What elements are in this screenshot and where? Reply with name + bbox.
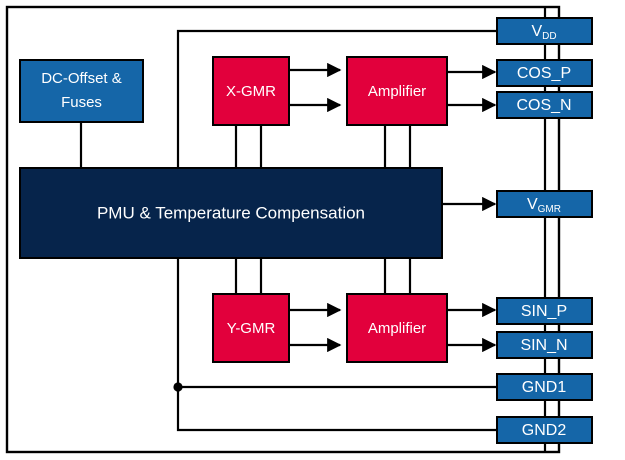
pin-vgmr-subscript: GMR	[538, 204, 561, 215]
wire-gnd2	[178, 387, 497, 430]
block-pmu-label: PMU & Temperature Compensation	[97, 203, 365, 222]
pin-vgmr-label: V	[527, 196, 538, 213]
block-x-gmr-label: X-GMR	[226, 83, 276, 100]
pin-cos-n[interactable]: COS_N	[497, 92, 592, 118]
block-y-gmr[interactable]: Y-GMR	[213, 294, 289, 362]
block-y-gmr-label: Y-GMR	[227, 320, 276, 337]
pin-gnd1-label: GND1	[522, 379, 567, 396]
block-dc-offset-label2: Fuses	[61, 94, 102, 111]
block-dc-offset-label: DC-Offset &	[41, 70, 122, 87]
pin-cos-n-label: COS_N	[516, 97, 571, 114]
pin-sin-p-label: SIN_P	[521, 303, 567, 320]
pin-sin-p[interactable]: SIN_P	[497, 298, 592, 324]
diagram-canvas: DC-Offset & Fuses X-GMR Amplifier PMU & …	[0, 0, 625, 460]
block-amplifier-top[interactable]: Amplifier	[347, 57, 447, 125]
pin-vdd-subscript: DD	[542, 31, 556, 42]
block-pmu[interactable]: PMU & Temperature Compensation	[20, 168, 442, 258]
block-x-gmr[interactable]: X-GMR	[213, 57, 289, 125]
pin-gnd2-label: GND2	[522, 422, 567, 439]
pin-vdd[interactable]: VDD	[497, 18, 592, 44]
pin-cos-p-label: COS_P	[517, 65, 571, 82]
pin-sin-n-label: SIN_N	[520, 337, 567, 354]
pin-cos-p[interactable]: COS_P	[497, 60, 592, 86]
wire-junction-dot	[173, 382, 182, 391]
pin-vgmr[interactable]: VGMR	[497, 191, 592, 217]
block-amplifier-bottom[interactable]: Amplifier	[347, 294, 447, 362]
pin-sin-n[interactable]: SIN_N	[497, 332, 592, 358]
block-amplifier-bottom-label: Amplifier	[368, 320, 426, 337]
pin-gnd2[interactable]: GND2	[497, 417, 592, 443]
block-amplifier-top-label: Amplifier	[368, 83, 426, 100]
pin-vdd-label: V	[531, 23, 542, 40]
pin-gnd1[interactable]: GND1	[497, 374, 592, 400]
block-diagram: DC-Offset & Fuses X-GMR Amplifier PMU & …	[0, 0, 625, 460]
block-dc-offset[interactable]: DC-Offset & Fuses	[20, 60, 143, 122]
